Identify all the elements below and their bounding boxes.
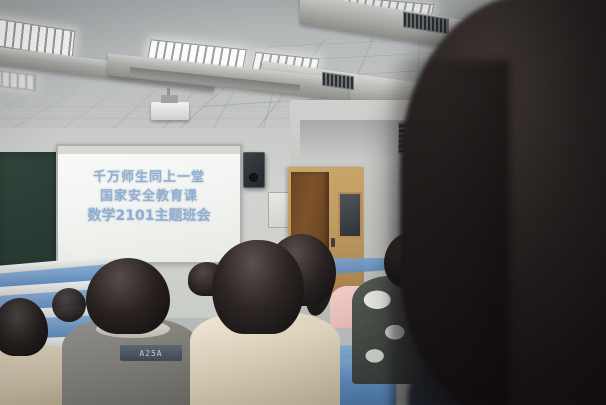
projection-screen-header-bar [58,146,240,154]
foreground-person-hair-edge [390,60,510,405]
slide-line-1: 千万师生同上一堂 [58,168,240,187]
projection-screen: 千万师生同上一堂 国家安全教育课 数学2101主题班会 [56,144,242,264]
door-handle[interactable] [331,238,335,247]
seat-number-label: A25A [120,345,182,361]
classroom-photo: 安全教育 千万师生同上一堂 国家安全教育课 数学2101主题班会 [0,0,606,405]
student-head-background [52,288,86,322]
projection-screen-text: 千万师生同上一堂 国家安全教育课 数学2101主题班会 [58,168,240,227]
slide-line-3: 数学2101主题班会 [58,206,240,227]
slide-line-2: 国家安全教育课 [58,187,240,206]
student-center-beige-head [212,240,304,334]
door-window [338,192,362,238]
student-grey-jacket-head [86,258,170,334]
wall-speaker-icon [243,152,265,188]
ceiling-projector-icon [151,102,189,120]
